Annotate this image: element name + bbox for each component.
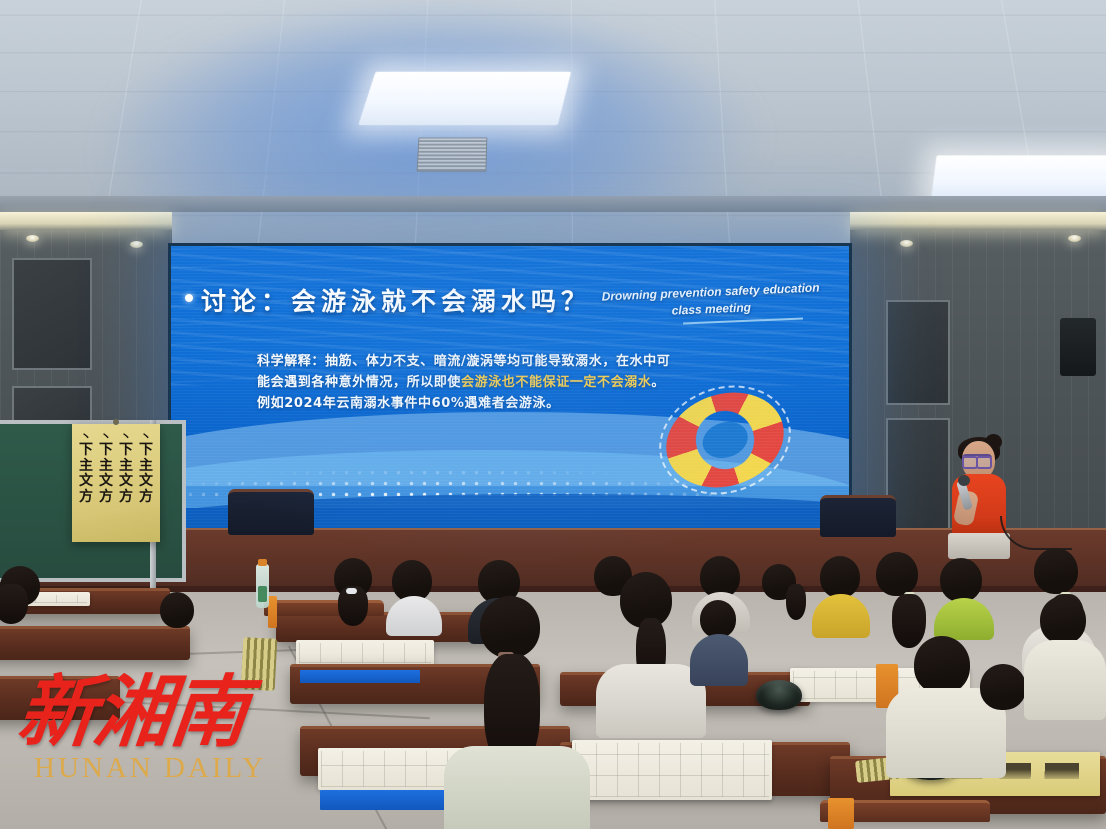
student-body	[690, 634, 748, 686]
poster-char: 丶	[96, 431, 116, 442]
poster-char: 文	[76, 474, 96, 488]
calligraphy-paper	[572, 740, 772, 800]
glasses-icon	[962, 454, 992, 463]
watermark-chinese: 新湘南	[14, 676, 322, 750]
cove-light-right	[850, 212, 1106, 230]
student-head	[480, 596, 540, 658]
ceiling-panel-light	[358, 72, 571, 125]
desk	[0, 626, 190, 660]
ceiling-panel-light	[931, 155, 1106, 199]
poster-char: 方	[96, 490, 116, 504]
student-head	[700, 600, 736, 638]
student-head	[940, 558, 982, 602]
poster-char: 主	[136, 459, 156, 473]
poster-char: 文	[136, 474, 156, 488]
poster-pin	[113, 419, 119, 425]
poster-char: 主	[76, 459, 96, 473]
slide-body-highlight: 会游泳也不能保证一定不会溺水	[461, 375, 651, 390]
poster-character-grid: 丶 丶 丶 丶 下 下 下 下 主 主 主 主 文 文 文 文 方 方 方 方	[76, 431, 156, 504]
student-ponytail	[786, 584, 806, 620]
title-bullet-icon	[185, 294, 193, 302]
bottle-cap	[258, 559, 267, 566]
poster-char: 下	[136, 443, 156, 457]
microphone-head	[958, 475, 970, 486]
calligraphy-paper	[296, 640, 434, 666]
student-head	[1040, 596, 1086, 644]
podium-chair	[228, 489, 314, 535]
poster-char: 下	[76, 443, 96, 457]
poster-char: 文	[96, 474, 116, 488]
ceiling-spotlight	[130, 241, 143, 248]
cove-light-left	[0, 212, 172, 230]
laptop	[948, 533, 1010, 559]
student-head	[980, 664, 1026, 710]
photo-scene: 讨论：会游泳就不会溺水吗？ Drowning prevention safety…	[0, 0, 1106, 829]
poster-char: 丶	[76, 431, 96, 442]
poster-char: 下	[116, 443, 136, 457]
student-body	[1024, 640, 1106, 720]
ink-bowl	[756, 680, 802, 710]
poster-char: 文	[116, 474, 136, 488]
poster-char: 方	[136, 490, 156, 504]
student-head	[160, 592, 194, 628]
hair-tie	[346, 588, 357, 594]
water-bottle	[256, 564, 269, 608]
ceiling-spotlight	[26, 235, 39, 242]
student-head	[820, 556, 860, 598]
slide-body-line-2-pre: 能会遇到各种意外情况，所以即使	[257, 375, 461, 390]
air-vent	[417, 138, 488, 172]
poster-char: 方	[116, 490, 136, 504]
slide-body-line-2-post: 。	[651, 375, 665, 390]
chair-tag	[268, 596, 277, 628]
poster-char: 主	[96, 459, 116, 473]
student-body	[444, 746, 590, 829]
poster-char: 丶	[136, 431, 156, 442]
wall-niche	[886, 300, 950, 405]
wall-speaker	[1060, 318, 1096, 376]
student-ponytail	[892, 594, 926, 648]
slide-title: 讨论：会游泳就不会溺水吗？	[201, 282, 591, 318]
student-head	[914, 636, 970, 694]
chair-tag	[828, 798, 854, 829]
student-head	[876, 552, 918, 596]
wall-niche	[12, 258, 92, 370]
student-head	[1034, 548, 1078, 594]
slide-body-line-1: 科学解释：抽筋、体力不支、暗流/漩涡等均可能导致溺水，在水中可	[257, 351, 797, 372]
poster-char: 下	[96, 443, 116, 457]
poster-char: 主	[116, 459, 136, 473]
ceiling-beam	[0, 196, 1106, 212]
ceiling-spotlight	[1068, 235, 1081, 242]
podium-chair	[820, 495, 896, 537]
watermark: 新湘南 HUNAN DAILY	[18, 676, 318, 785]
calligraphy-practice-poster: 丶 丶 丶 丶 下 下 下 下 主 主 主 主 文 文 文 文 方 方 方 方	[72, 424, 160, 542]
ceiling-spotlight	[900, 240, 913, 247]
poster-char: 丶	[116, 431, 136, 442]
poster-char: 方	[76, 490, 96, 504]
